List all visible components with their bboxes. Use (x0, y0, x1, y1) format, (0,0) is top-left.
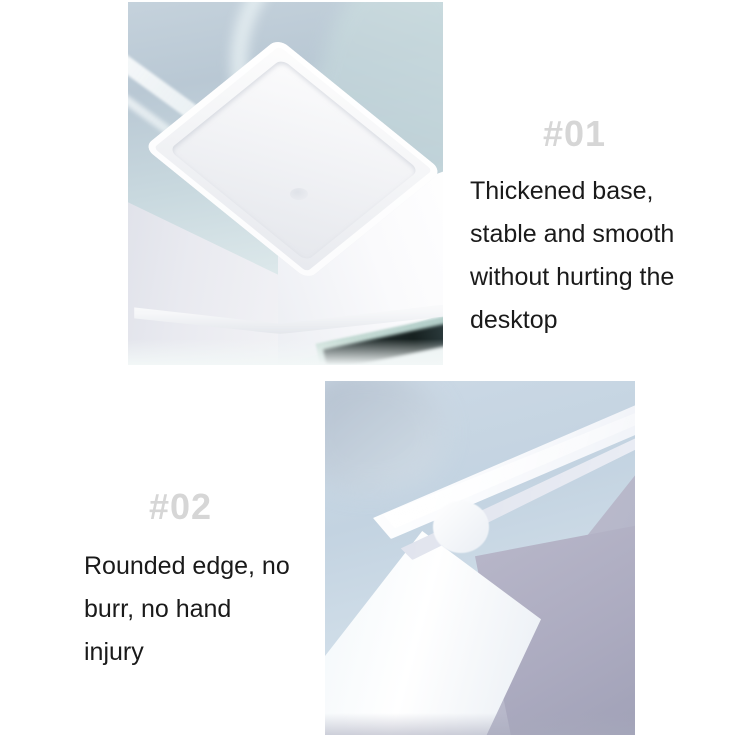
feature-number-01: #01 (543, 116, 606, 152)
feature-photo-thickened-base (128, 2, 443, 365)
photo-bottom-fade (128, 339, 443, 365)
feature-description-02: Rounded edge, no burr, no hand injury (84, 545, 319, 674)
product-feature-infographic: #01 Thickened base, stable and smooth wi… (0, 0, 753, 754)
box-center-dimple (290, 188, 308, 200)
background-blur-blob (325, 381, 445, 491)
rim-corner-cap (433, 501, 489, 553)
feature-photo-rounded-edge (325, 381, 635, 735)
feature-description-01: Thickened base, stable and smooth withou… (470, 170, 720, 342)
feature-number-02: #02 (149, 489, 212, 525)
photo-bottom-fade (325, 713, 635, 735)
